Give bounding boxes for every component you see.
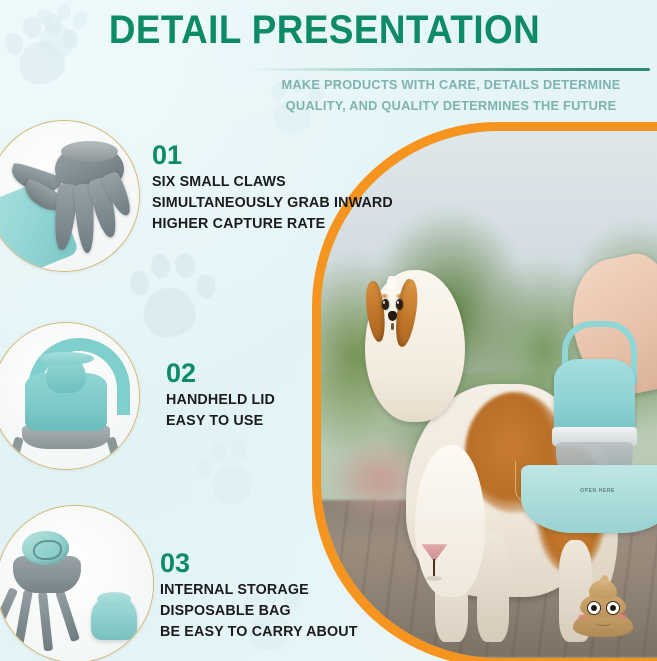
dog-eye-right xyxy=(396,299,403,310)
feature-line: BE EASY TO CARRY ABOUT xyxy=(160,622,358,643)
subtitle-line-1: MAKE PRODUCTS WITH CARE, DETAILS DETERMI… xyxy=(256,74,646,95)
dog-ear-left xyxy=(363,280,387,342)
feature-line: DISPOSABLE BAG xyxy=(160,601,358,622)
page-title: DETAIL PRESENTATION xyxy=(26,8,623,52)
feature-line: HIGHER CAPTURE RATE xyxy=(152,214,393,235)
internal-storage-bag-thumbnail[interactable] xyxy=(0,505,154,661)
subtitle-line-2: QUALITY, AND QUALITY DETERMINES THE FUTU… xyxy=(256,95,646,116)
feature-block-02: 02 HANDHELD LID EASY TO USE xyxy=(166,358,275,432)
feature-line: EASY TO USE xyxy=(166,411,275,432)
wine-glass-icon xyxy=(421,544,447,584)
feature-block-03: 03 INTERNAL STORAGE DISPOSABLE BAG BE EA… xyxy=(160,548,358,643)
six-claw-grabber-thumbnail[interactable] xyxy=(0,120,140,272)
feature-line: SIX SMALL CLAWS xyxy=(152,172,393,193)
page-subtitle: MAKE PRODUCTS WITH CARE, DETAILS DETERMI… xyxy=(256,74,646,116)
title-divider xyxy=(250,68,650,71)
handheld-lid-thumbnail[interactable] xyxy=(0,322,140,470)
feature-line: INTERNAL STORAGE xyxy=(160,580,358,601)
feature-number: 02 xyxy=(166,358,275,388)
feature-number: 03 xyxy=(160,548,358,578)
dog-nose xyxy=(388,311,397,321)
detail-presentation-page: DETAIL PRESENTATION MAKE PRODUCTS WITH C… xyxy=(0,0,657,661)
device-disposable-bag: OPEN HERE xyxy=(521,465,657,533)
dog-eye-left xyxy=(382,299,389,310)
paw-print-icon xyxy=(124,242,224,345)
feature-line: SIMULTANEOUSLY GRAB INWARD xyxy=(152,193,393,214)
pooper-scooper-device: OPEN HERE xyxy=(546,321,648,511)
bag-open-here-label: OPEN HERE xyxy=(521,488,657,494)
feature-block-01: 01 SIX SMALL CLAWS SIMULTANEOUSLY GRAB I… xyxy=(152,140,393,235)
poop-emoji-icon xyxy=(573,575,633,637)
feature-number: 01 xyxy=(152,140,393,170)
dog-head xyxy=(365,270,465,422)
feature-line: HANDHELD LID xyxy=(166,390,275,411)
